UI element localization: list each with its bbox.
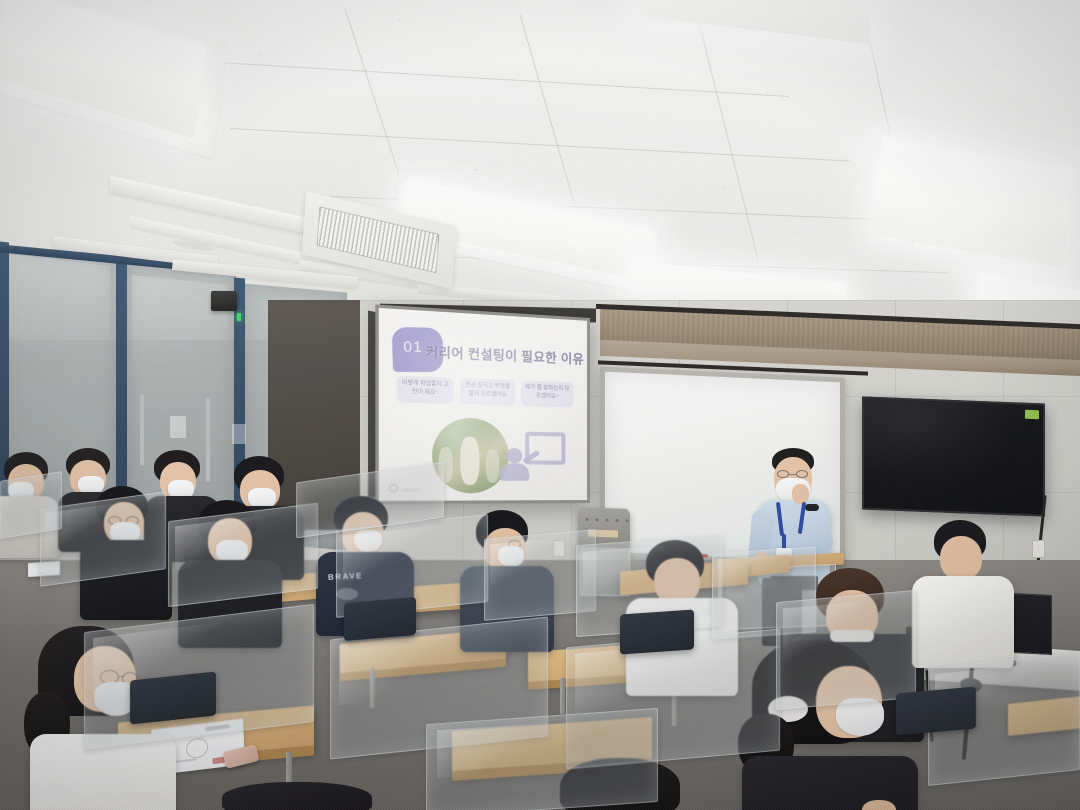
wall-speaker	[211, 291, 237, 311]
handout-logo	[212, 757, 224, 764]
tv-screen-reflection	[864, 399, 1043, 515]
presenter-glasses	[796, 470, 808, 478]
wall-outlet[interactable]	[1032, 540, 1045, 558]
slide-photo-figure	[486, 450, 500, 483]
shield-gleam	[437, 722, 563, 779]
desk-divider-shield	[776, 590, 916, 710]
student-8	[920, 520, 1006, 648]
wall-tv-monitor[interactable]	[862, 396, 1045, 516]
slide-pill-2: 전공 살리고 무엇을 할지 모르겠어요	[460, 378, 515, 406]
shield-gleam	[343, 526, 431, 581]
student-torso	[742, 756, 918, 810]
presenter-raised-hand	[792, 484, 809, 504]
tv-asset-sticker	[1025, 410, 1039, 420]
student-head	[940, 536, 982, 580]
classroom-scene: 01 커리어 컨설팅이 필요한 이유 어떻게 취업할지 고민이 돼요~ 전공 살…	[0, 0, 1080, 810]
shield-gleam	[490, 539, 554, 587]
desk-leg	[560, 678, 565, 714]
glass-reflection	[6, 254, 110, 417]
door-sign	[170, 416, 186, 438]
presenter-wristwatch	[805, 504, 819, 511]
door-sign	[232, 424, 246, 444]
shield-gleam	[583, 546, 665, 598]
shield-gleam	[575, 643, 693, 713]
desk-divider-shield	[0, 471, 62, 539]
classroom-chair[interactable]	[896, 687, 976, 736]
student-foreground-edge	[222, 782, 372, 810]
presenter-glasses	[777, 470, 789, 478]
chair-perforation	[583, 517, 631, 523]
shield-gleam	[339, 633, 461, 706]
slide-pill-1: 어떻게 취업할지 고민이 돼요~	[397, 375, 454, 403]
slide-person-head-icon	[507, 448, 522, 464]
shield-gleam	[175, 516, 261, 571]
shield-gleam	[783, 602, 861, 663]
student-torso	[912, 576, 1014, 668]
student-hair	[222, 782, 372, 810]
slide-person-body-icon	[499, 463, 529, 481]
slide-photo-figure	[460, 437, 479, 485]
classroom-chair[interactable]	[620, 609, 694, 654]
slide-pill-3: 제가 뭘 잘하는지 모르겠어요~	[521, 380, 573, 407]
slide-badge-number: 01	[403, 338, 423, 355]
shield-gleam	[718, 555, 776, 603]
classroom-chair[interactable]	[130, 671, 216, 724]
classroom-chair[interactable]	[344, 597, 416, 641]
slide-title: 커리어 컨설팅이 필요한 이유	[426, 341, 584, 368]
speaker-power-led	[237, 313, 241, 321]
glasses-bridge	[789, 474, 796, 475]
desk-divider-shield	[426, 708, 658, 810]
handout-diagram	[186, 737, 209, 760]
